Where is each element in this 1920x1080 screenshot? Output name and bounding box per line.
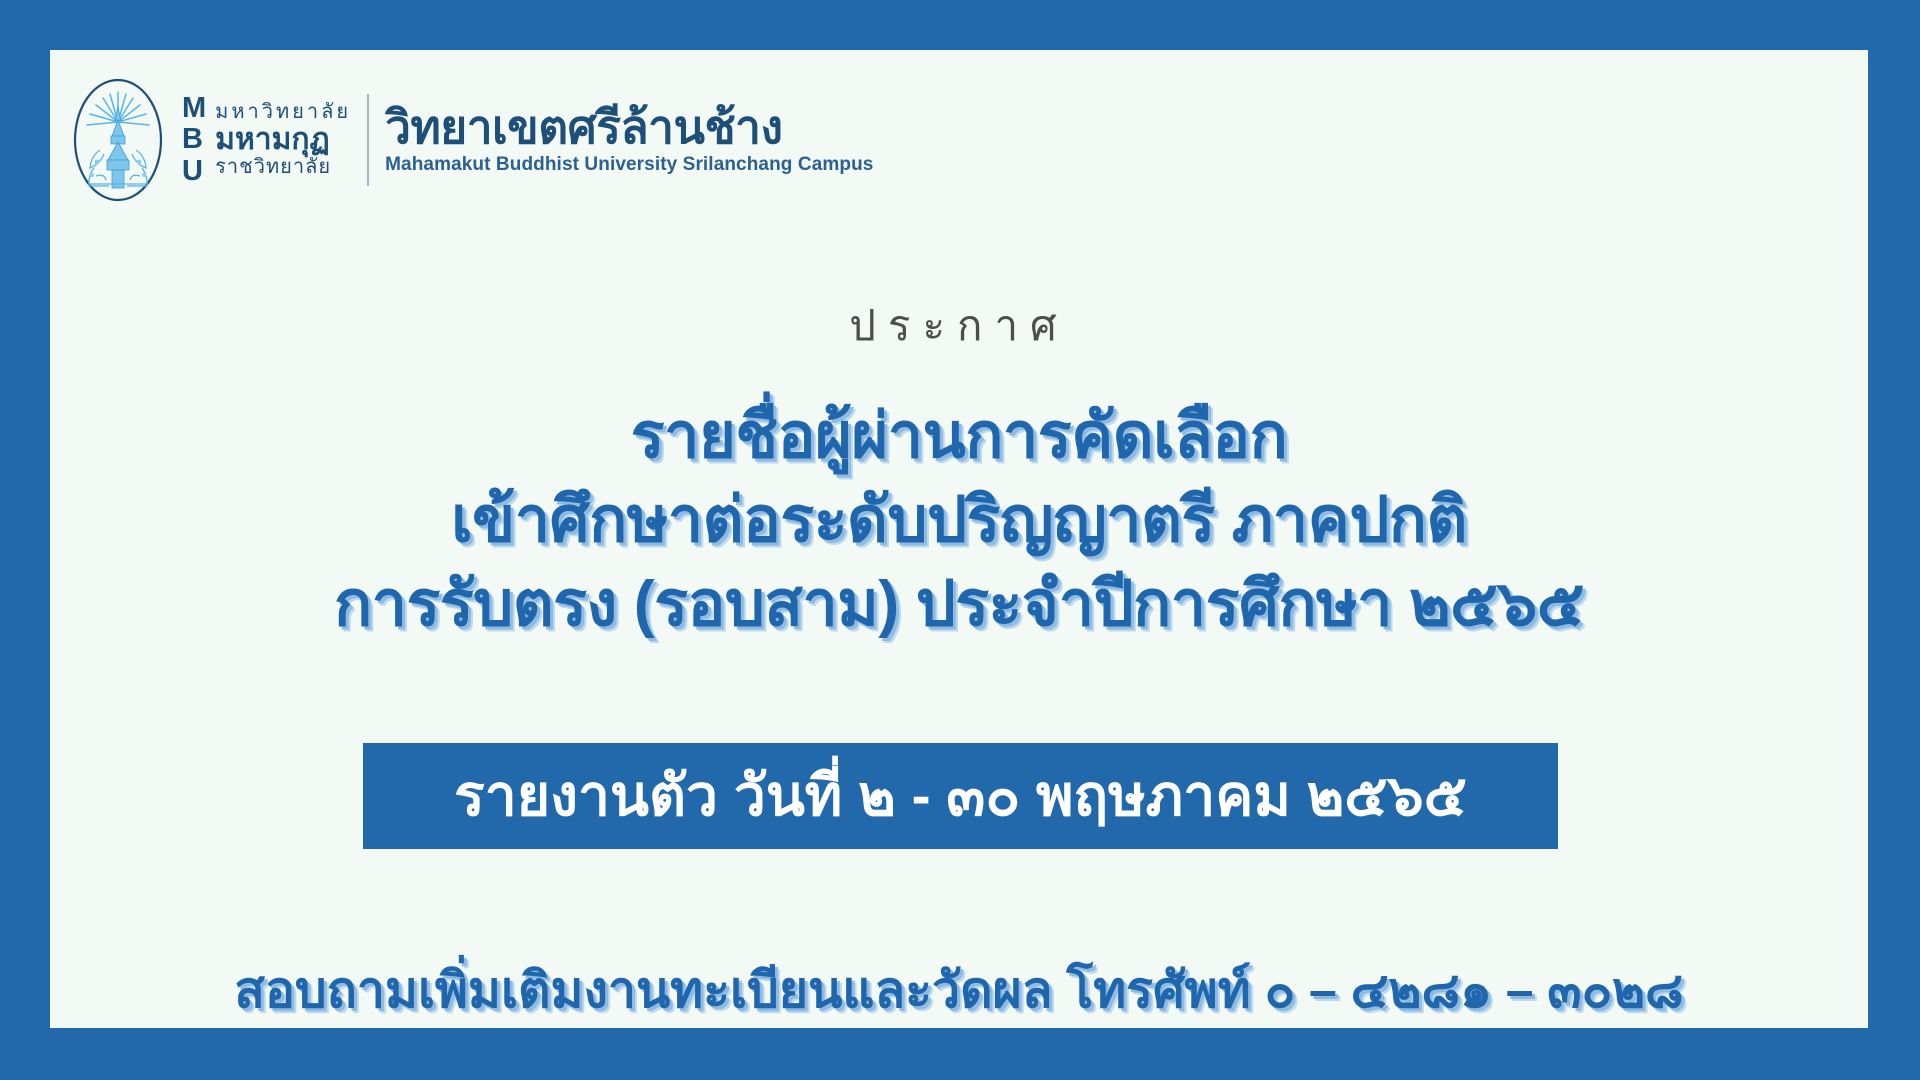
report-date-banner: รายงานตัว วันที่ ๒ - ๓๐ พฤษภาคม ๒๕๖๕ (363, 743, 1558, 849)
announcement-content: ประกาศ รายชื่อผู้ผ่านการคัดเลือก เข้าศึก… (50, 50, 1868, 1028)
headline-line-3: การรับตรง (รอบสาม) ประจำปีการศึกษา ๒๕๖๕ (50, 563, 1868, 647)
headline-line-2: เข้าศึกษาต่อระดับปริญญาตรี ภาคปกติ (50, 479, 1868, 563)
contact-footer: สอบถามเพิ่มเติมงานทะเบียนและวัดผล โทรศัพ… (50, 965, 1868, 1015)
poster-inner-panel: M B U มหาวิทยาลัย มหามกุฏ ราชวิทยาลัย วิ… (50, 50, 1868, 1028)
report-date-text: รายงานตัว วันที่ ๒ - ๓๐ พฤษภาคม ๒๕๖๕ (454, 768, 1467, 825)
headline-line-1: รายชื่อผู้ผ่านการคัดเลือก (50, 395, 1868, 479)
announcement-headline: รายชื่อผู้ผ่านการคัดเลือก เข้าศึกษาต่อระ… (50, 395, 1868, 646)
announcement-kicker: ประกาศ (50, 305, 1868, 347)
announcement-poster: M B U มหาวิทยาลัย มหามกุฏ ราชวิทยาลัย วิ… (0, 0, 1920, 1080)
